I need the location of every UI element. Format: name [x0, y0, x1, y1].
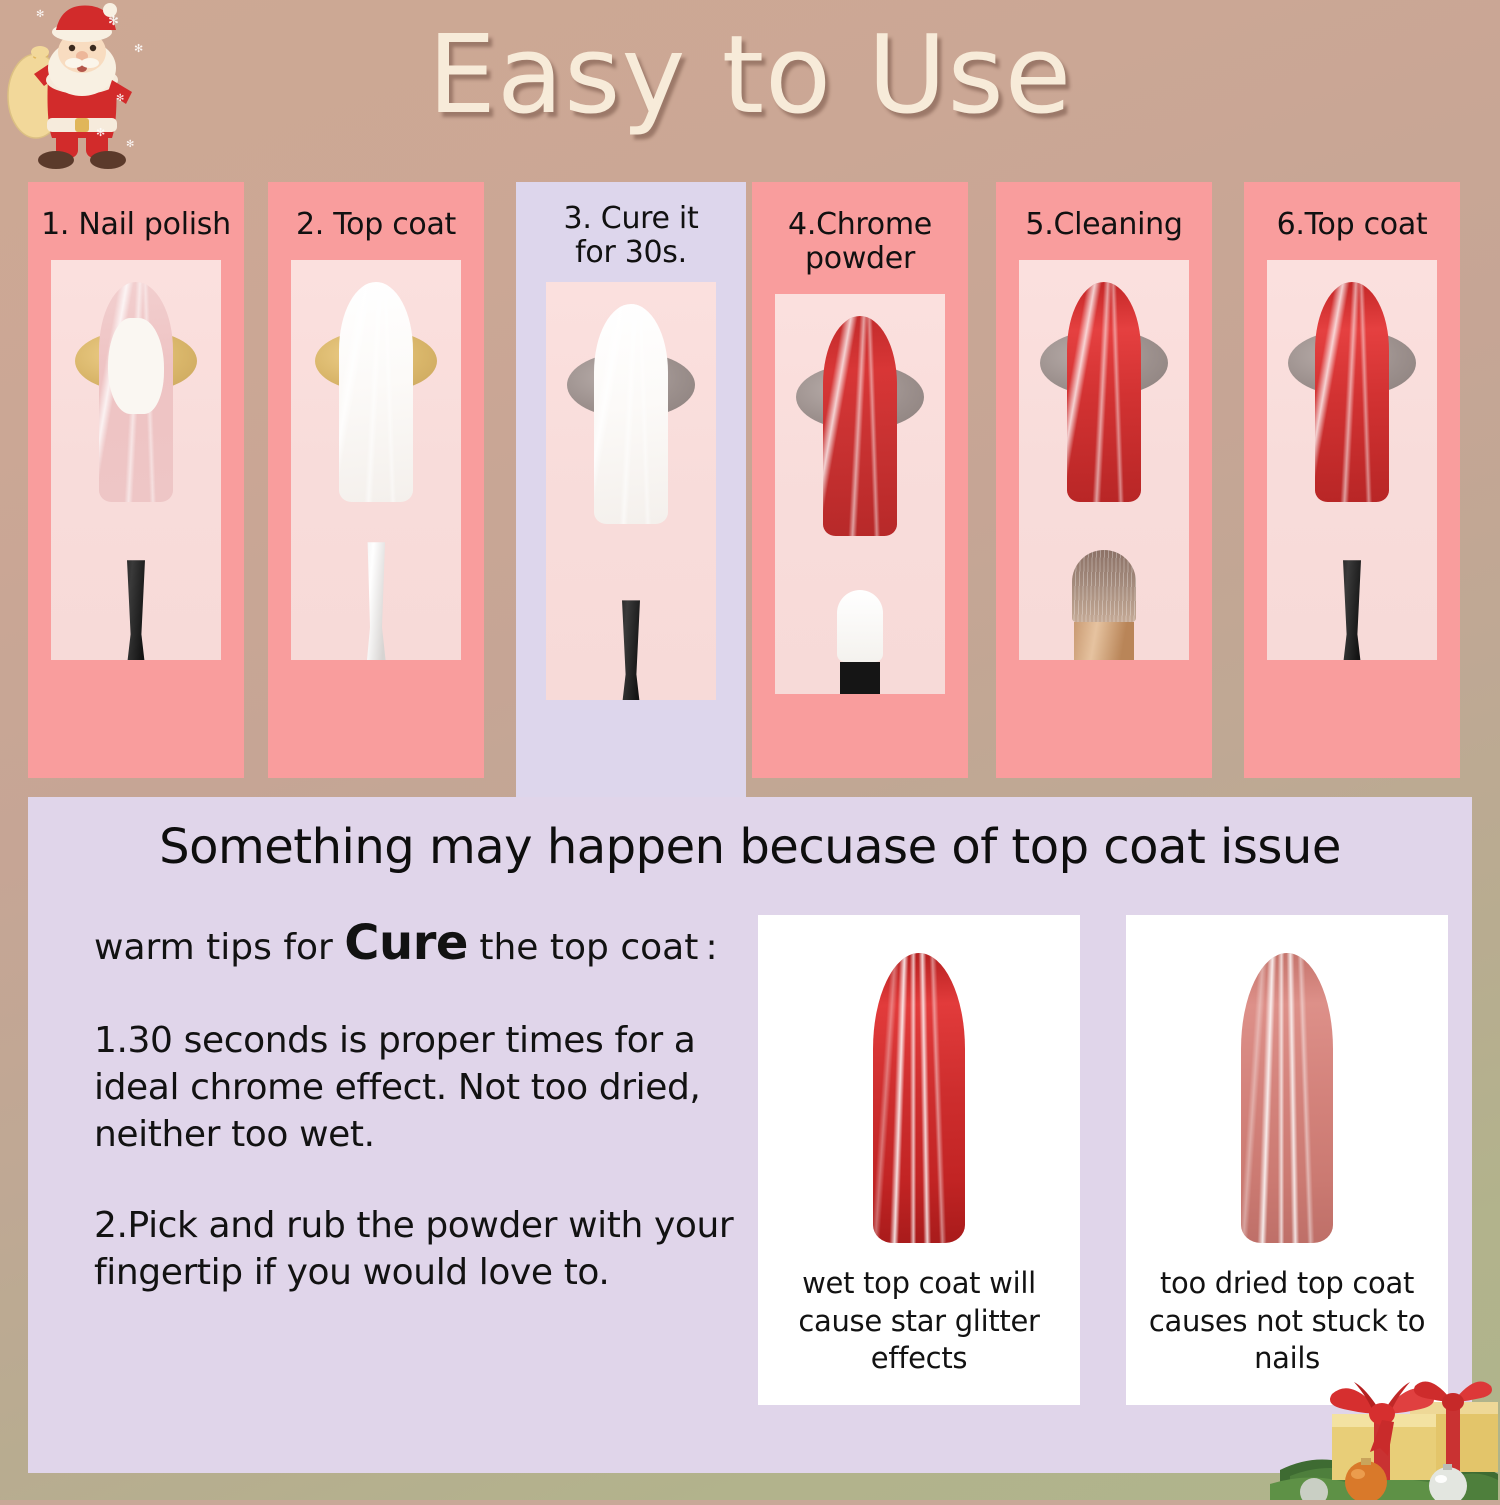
step-card-1[interactable]: 1. Nail polish — [28, 182, 244, 778]
snowflake-icon: ✻ — [36, 10, 44, 20]
snowflake-icon: ✻ — [126, 140, 134, 150]
santa-decoration: ✻ ✻ ✻ ✻ ✻ ✻ — [0, 0, 170, 178]
step-label-5: 5.Cleaning — [996, 182, 1212, 242]
step-photo-3 — [546, 282, 716, 700]
steps-row: 1. Nail polish 2. Top coat — [0, 182, 1500, 802]
red-glitter-chrome-nail — [823, 316, 897, 536]
makeup-brush-icon — [1072, 550, 1136, 660]
nail-sheen — [823, 316, 897, 536]
step-label-2: 2. Top coat — [268, 182, 484, 242]
warm-tips-column: warm tips for Cure the top coat : 1.30 s… — [94, 913, 754, 1296]
step-card-5[interactable]: 5.Cleaning — [996, 182, 1212, 778]
step-label-3-line1: 3. Cure it — [520, 202, 742, 236]
step-label-3: 3. Cure it for 30s. — [516, 182, 746, 270]
nail-sheen — [1067, 282, 1141, 502]
dried-top-coat-dull-nail — [1241, 953, 1333, 1243]
step-photo-2 — [291, 260, 461, 660]
christmas-decoration — [1270, 1310, 1500, 1500]
step-card-3[interactable]: 3. Cure it for 30s. — [516, 182, 746, 802]
step-label-4-line1: 4.Chrome — [756, 208, 964, 242]
nail-sheen — [1315, 282, 1389, 502]
black-polish-brush-icon — [1337, 560, 1367, 660]
red-chrome-finished-nail — [1315, 282, 1389, 502]
step-label-3-line2: for 30s. — [520, 236, 742, 270]
nail-streaks — [1241, 953, 1333, 1243]
white-polish-brush-icon — [361, 542, 391, 660]
step-photo-1 — [51, 260, 221, 660]
sponge-tip — [837, 590, 883, 662]
snowflake-icon: ✻ — [96, 128, 105, 139]
cure-emphasis: Cure — [344, 915, 468, 971]
warm-tips-lead-after: the top coat : — [468, 927, 718, 968]
step-card-6[interactable]: 6.Top coat — [1244, 182, 1460, 778]
example-card-wet-top-coat[interactable]: wet top coat will cause star glitter eff… — [758, 915, 1080, 1405]
step-photo-5 — [1019, 260, 1189, 660]
white-coated-nail — [339, 282, 413, 502]
top-coat-issue-panel: Something may happen becuase of top coat… — [28, 797, 1472, 1473]
panel-heading: Something may happen becuase of top coat… — [28, 819, 1472, 875]
step-label-6: 6.Top coat — [1244, 182, 1460, 242]
snowflake-icon: ✻ — [116, 94, 124, 104]
warm-tips-lead: warm tips for Cure the top coat : — [94, 913, 754, 974]
wet-top-coat-glitter-nail — [873, 953, 965, 1243]
warm-tips-lead-before: warm tips for — [94, 927, 344, 968]
step-photo-6 — [1267, 260, 1437, 660]
red-chrome-nail — [1067, 282, 1141, 502]
page-title: Easy to Use — [0, 22, 1500, 130]
santa-claus-icon — [0, 0, 170, 178]
step-card-4[interactable]: 4.Chrome powder — [752, 182, 968, 778]
step-label-4: 4.Chrome powder — [752, 182, 968, 276]
black-polish-brush-icon — [616, 600, 646, 700]
christmas-gift-boxes-icon — [1270, 1310, 1500, 1500]
step-card-2[interactable]: 2. Top coat — [268, 182, 484, 778]
brush-bristles — [1072, 550, 1136, 622]
warm-tip-2: 2.Pick and rub the powder with your fing… — [94, 1203, 754, 1297]
snowflake-icon: ✻ — [108, 14, 119, 27]
sponge-applicator-icon — [837, 590, 883, 694]
poster-root: ✻ ✻ ✻ ✻ ✻ ✻ Easy to Use 1. Nail polish 2… — [0, 0, 1500, 1500]
white-cured-nail — [594, 304, 668, 524]
black-polish-brush-icon — [121, 560, 151, 660]
step-label-4-line2: powder — [756, 242, 964, 276]
nail-sheen — [594, 304, 668, 524]
nail-streaks — [873, 953, 965, 1243]
warm-tip-1: 1.30 seconds is proper times for a ideal… — [94, 1018, 754, 1158]
snowflake-icon: ✻ — [134, 44, 143, 55]
applicator-stick — [840, 662, 880, 694]
polish-smear — [108, 318, 164, 414]
step-photo-4 — [775, 294, 945, 694]
brush-ferrule — [1074, 622, 1134, 660]
step-label-1: 1. Nail polish — [28, 182, 244, 242]
nail-sheen — [339, 282, 413, 502]
example-caption-wet: wet top coat will cause star glitter eff… — [758, 1265, 1080, 1378]
